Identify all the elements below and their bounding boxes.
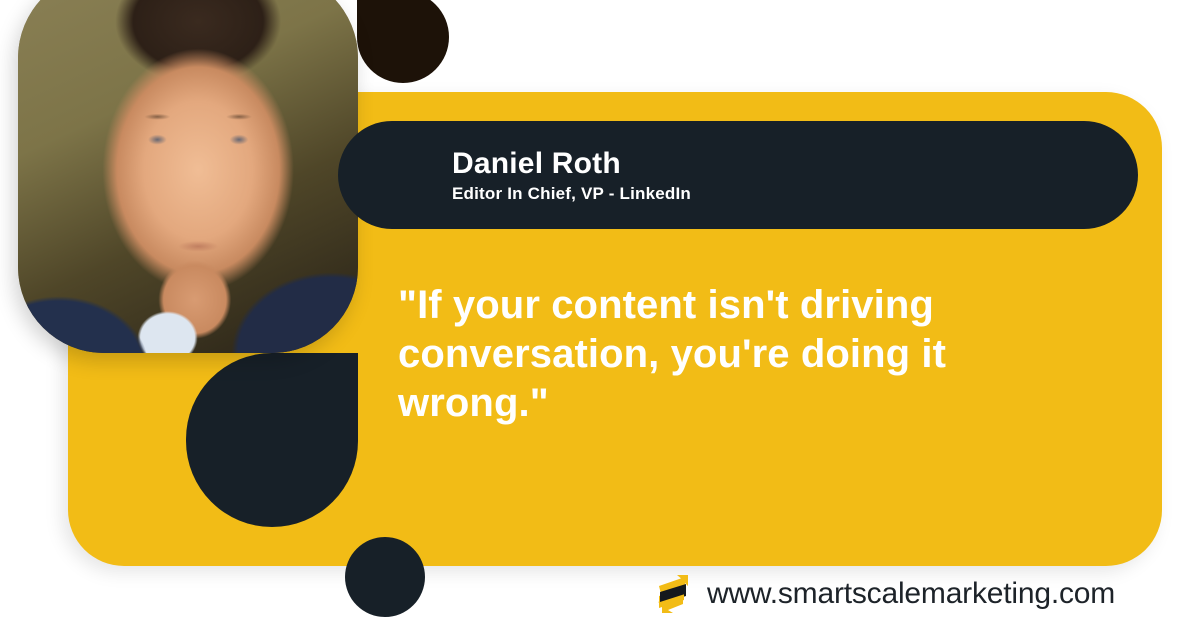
avatar (18, 0, 358, 353)
website-url[interactable]: www.smartscalemarketing.com (707, 577, 1115, 611)
smartscale-logo-icon (655, 572, 691, 616)
page-title: Daniel Roth (452, 147, 1138, 180)
decorative-leaf-large-shape (186, 353, 358, 527)
quote-text: "If your content isn't driving conversat… (398, 281, 1028, 427)
decorative-circle-bottom-shape (345, 537, 425, 617)
decorative-leaf-top-shape (357, 0, 449, 83)
footer: www.smartscalemarketing.com (655, 572, 1115, 616)
speaker-role: Editor In Chief, VP - LinkedIn (452, 185, 1138, 204)
quote-card-canvas: Daniel Roth Editor In Chief, VP - Linked… (0, 0, 1200, 627)
speaker-name-bar: Daniel Roth Editor In Chief, VP - Linked… (338, 121, 1138, 229)
portrait-photo (18, 0, 358, 353)
